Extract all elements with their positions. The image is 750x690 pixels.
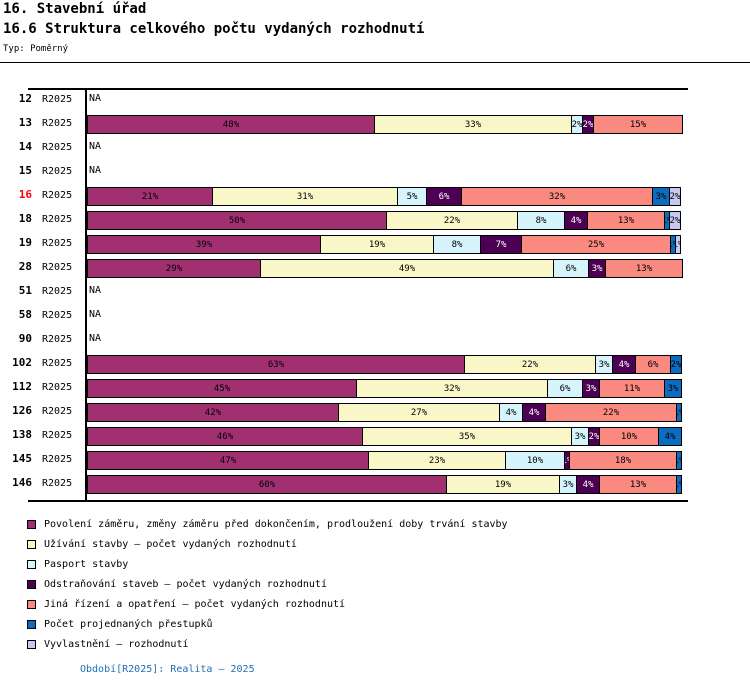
bar-segment: 13% xyxy=(599,475,677,494)
bar-segment: 8% xyxy=(433,235,481,254)
chart-row: 16R202521%31%5%6%32%3%2% xyxy=(0,184,750,210)
bar-segment: 8% xyxy=(517,211,565,230)
chart-row: 102R202563%22%3%4%6%2% xyxy=(0,352,750,378)
chart-row: 138R202546%35%3%2%10%4% xyxy=(0,424,750,450)
row-index-label: 112 xyxy=(0,381,32,393)
legend-item: Pasport stavby xyxy=(0,555,750,575)
stacked-bar: 50%22%8%4%13%1%2% xyxy=(87,211,687,230)
chart-row: 90R2025NA xyxy=(0,328,750,354)
chart-page: 16. Stavební úřad 16.6 Struktura celkové… xyxy=(0,0,750,690)
bar-segment: 63% xyxy=(87,355,465,374)
chart-row: 13R202548%33%2%2%15% xyxy=(0,112,750,138)
stacked-bar: 29%49%6%3%13% xyxy=(87,259,687,278)
chart-row: 15R2025NA xyxy=(0,160,750,186)
chart-legend: Povolení záměru, změny záměru před dokon… xyxy=(0,515,750,655)
bar-segment: 39% xyxy=(87,235,321,254)
bar-segment: 1% xyxy=(676,475,682,494)
bar-segment: 3% xyxy=(664,379,682,398)
bar-segment: 5% xyxy=(397,187,427,206)
bar-segment: 3% xyxy=(559,475,577,494)
page-title: 16. Stavební úřad xyxy=(3,1,146,17)
legend-label: Pasport stavby xyxy=(44,559,128,570)
chart-row: 58R2025NA xyxy=(0,304,750,330)
row-index-label: 13 xyxy=(0,117,32,129)
stacked-bar: 48%33%2%2%15% xyxy=(87,115,687,134)
row-period-label: R2025 xyxy=(42,190,72,202)
bar-segment: 32% xyxy=(356,379,548,398)
legend-swatch-icon xyxy=(27,640,36,649)
chart-row: 18R202550%22%8%4%13%1%2% xyxy=(0,208,750,234)
stacked-bar: 60%19%3%4%13%1% xyxy=(87,475,687,494)
row-period-label: R2025 xyxy=(42,358,72,370)
bar-segment: 29% xyxy=(87,259,261,278)
stacked-bar: 45%32%6%3%11%3% xyxy=(87,379,687,398)
legend-swatch-icon xyxy=(27,580,36,589)
bar-segment: 3% xyxy=(588,259,606,278)
row-period-label: R2025 xyxy=(42,286,72,298)
bar-segment: 3% xyxy=(652,187,670,206)
bar-segment: 4% xyxy=(576,475,600,494)
row-index-label: 126 xyxy=(0,405,32,417)
chart-title: 16.6 Struktura celkového počtu vydaných … xyxy=(3,21,424,37)
bar-segment: 19% xyxy=(446,475,560,494)
legend-label: Vyvlastnění – rozhodnutí xyxy=(44,639,189,650)
row-index-label: 146 xyxy=(0,477,32,489)
bar-segment: 6% xyxy=(426,187,462,206)
bar-segment: 1% xyxy=(676,451,682,470)
row-index-label: 15 xyxy=(0,165,32,177)
bar-segment: 22% xyxy=(386,211,518,230)
bar-segment: 2% xyxy=(669,187,681,206)
row-period-label: R2025 xyxy=(42,334,72,346)
row-period-label: R2025 xyxy=(42,214,72,226)
bar-segment: 19% xyxy=(320,235,434,254)
row-na-label: NA xyxy=(89,333,101,345)
bar-segment: 33% xyxy=(374,115,572,134)
bar-segment: 48% xyxy=(87,115,375,134)
bar-segment: 6% xyxy=(547,379,583,398)
bar-segment: 32% xyxy=(461,187,653,206)
row-na-label: NA xyxy=(89,165,101,177)
bar-segment: 3% xyxy=(582,379,600,398)
bar-segment: 7% xyxy=(480,235,522,254)
chart-row: 14R2025NA xyxy=(0,136,750,162)
bar-segment: 47% xyxy=(87,451,369,470)
row-index-label: 19 xyxy=(0,237,32,249)
row-na-label: NA xyxy=(89,93,101,105)
bar-segment: 22% xyxy=(464,355,596,374)
bar-segment: 4% xyxy=(612,355,636,374)
row-index-label: 28 xyxy=(0,261,32,273)
row-na-label: NA xyxy=(89,141,101,153)
row-na-label: NA xyxy=(89,285,101,297)
legend-item: Jiná řízení a opatření – počet vydaných … xyxy=(0,595,750,615)
legend-item: Užívání stavby – počet vydaných rozhodnu… xyxy=(0,535,750,555)
bar-segment: 49% xyxy=(260,259,554,278)
bar-segment: 4% xyxy=(499,403,523,422)
bar-segment: 50% xyxy=(87,211,387,230)
period-footnote: Období[R2025]: Realita – 2025 xyxy=(0,664,750,675)
row-index-label: 14 xyxy=(0,141,32,153)
bar-segment: 27% xyxy=(338,403,500,422)
bar-segment: 2% xyxy=(669,211,681,230)
chart-row: 19R202539%19%8%7%25%1%1% xyxy=(0,232,750,258)
stacked-bar: 46%35%3%2%10%4% xyxy=(87,427,687,446)
bar-segment: 4% xyxy=(522,403,546,422)
bar-segment: 2% xyxy=(670,355,682,374)
legend-item: Vyvlastnění – rozhodnutí xyxy=(0,635,750,655)
legend-swatch-icon xyxy=(27,620,36,629)
legend-swatch-icon xyxy=(27,560,36,569)
legend-swatch-icon xyxy=(27,600,36,609)
bar-segment: 4% xyxy=(658,427,682,446)
row-index-label: 90 xyxy=(0,333,32,345)
bar-segment: 42% xyxy=(87,403,339,422)
row-index-label: 145 xyxy=(0,453,32,465)
legend-item: Počet projednaných přestupků xyxy=(0,615,750,635)
row-period-label: R2025 xyxy=(42,382,72,394)
row-period-label: R2025 xyxy=(42,118,72,130)
legend-item: Povolení záměru, změny záměru před dokon… xyxy=(0,515,750,535)
chart-row: 126R202542%27%4%4%22%1% xyxy=(0,400,750,426)
chart-row: 145R202547%23%10%1%18%1% xyxy=(0,448,750,474)
row-period-label: R2025 xyxy=(42,430,72,442)
bar-segment: 13% xyxy=(605,259,683,278)
bar-segment: 46% xyxy=(87,427,363,446)
bar-segment: 23% xyxy=(368,451,506,470)
stacked-bar: 47%23%10%1%18%1% xyxy=(87,451,687,470)
bar-segment: 21% xyxy=(87,187,213,206)
legend-label: Počet projednaných přestupků xyxy=(44,619,213,630)
row-period-label: R2025 xyxy=(42,166,72,178)
bar-segment: 18% xyxy=(569,451,677,470)
bar-segment: 11% xyxy=(599,379,665,398)
row-period-label: R2025 xyxy=(42,478,72,490)
legend-label: Odstraňování staveb – počet vydaných roz… xyxy=(44,579,327,590)
bar-segment: 6% xyxy=(635,355,671,374)
bar-segment: 15% xyxy=(593,115,683,134)
bar-segment: 1% xyxy=(675,235,681,254)
chart-type-label: Typ: Poměrný xyxy=(3,44,68,54)
bar-segment: 31% xyxy=(212,187,398,206)
row-period-label: R2025 xyxy=(42,238,72,250)
row-index-label: 18 xyxy=(0,213,32,225)
bar-segment: 1% xyxy=(676,403,682,422)
bar-segment: 3% xyxy=(595,355,613,374)
stacked-bar: 42%27%4%4%22%1% xyxy=(87,403,687,422)
bar-segment: 35% xyxy=(362,427,572,446)
chart-row: 112R202545%32%6%3%11%3% xyxy=(0,376,750,402)
legend-item: Odstraňování staveb – počet vydaných roz… xyxy=(0,575,750,595)
row-period-label: R2025 xyxy=(42,94,72,106)
legend-swatch-icon xyxy=(27,540,36,549)
bar-segment: 3% xyxy=(571,427,589,446)
row-index-label: 58 xyxy=(0,309,32,321)
row-index-label: 16 xyxy=(0,189,32,201)
row-period-label: R2025 xyxy=(42,262,72,274)
bar-segment: 10% xyxy=(505,451,565,470)
row-period-label: R2025 xyxy=(42,406,72,418)
bar-segment: 25% xyxy=(521,235,671,254)
stacked-bar-chart: 12R2025NA13R202548%33%2%2%15%14R2025NA15… xyxy=(0,88,750,506)
bar-segment: 60% xyxy=(87,475,447,494)
row-index-label: 12 xyxy=(0,93,32,105)
stacked-bar: 21%31%5%6%32%3%2% xyxy=(87,187,687,206)
row-index-label: 102 xyxy=(0,357,32,369)
chart-row: 28R202529%49%6%3%13% xyxy=(0,256,750,282)
bar-segment: 22% xyxy=(545,403,677,422)
axis-bottom-line xyxy=(28,500,688,502)
legend-label: Povolení záměru, změny záměru před dokon… xyxy=(44,519,508,530)
bar-segment: 45% xyxy=(87,379,357,398)
row-na-label: NA xyxy=(89,309,101,321)
row-period-label: R2025 xyxy=(42,310,72,322)
chart-row: 146R202560%19%3%4%13%1% xyxy=(0,472,750,498)
legend-label: Užívání stavby – počet vydaných rozhodnu… xyxy=(44,539,297,550)
chart-row: 51R2025NA xyxy=(0,280,750,306)
legend-swatch-icon xyxy=(27,520,36,529)
row-period-label: R2025 xyxy=(42,142,72,154)
chart-row: 12R2025NA xyxy=(0,88,750,114)
header-divider xyxy=(0,62,750,63)
bar-segment: 4% xyxy=(564,211,588,230)
row-index-label: 51 xyxy=(0,285,32,297)
bar-segment: 10% xyxy=(599,427,659,446)
row-index-label: 138 xyxy=(0,429,32,441)
legend-label: Jiná řízení a opatření – počet vydaných … xyxy=(44,599,345,610)
bar-segment: 13% xyxy=(587,211,665,230)
row-period-label: R2025 xyxy=(42,454,72,466)
stacked-bar: 63%22%3%4%6%2% xyxy=(87,355,687,374)
bar-segment: 6% xyxy=(553,259,589,278)
stacked-bar: 39%19%8%7%25%1%1% xyxy=(87,235,687,254)
